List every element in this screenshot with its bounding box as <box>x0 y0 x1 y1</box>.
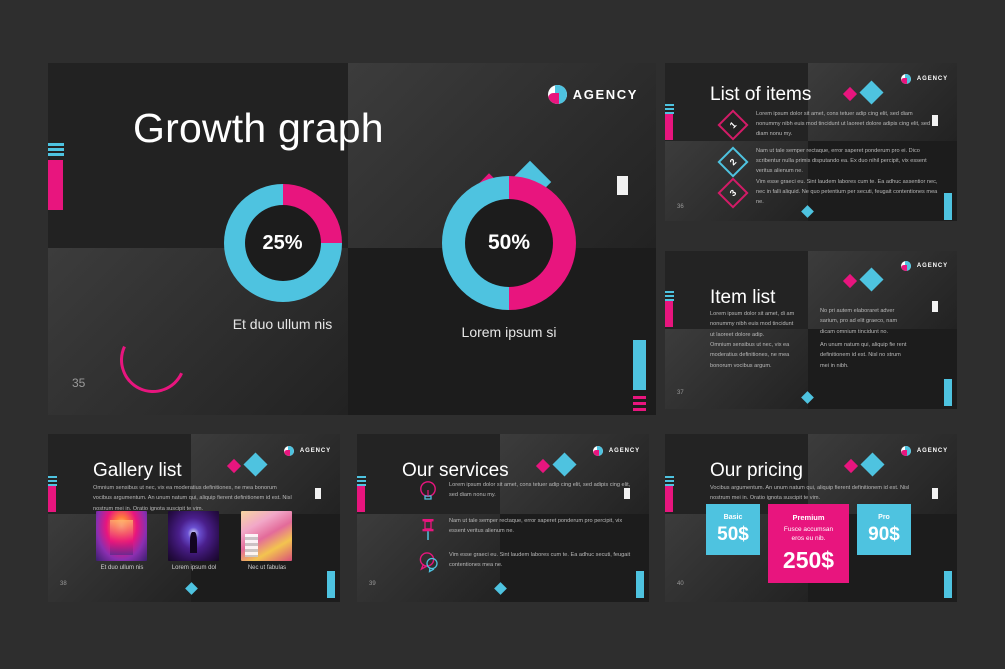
cyan-bar-decoration <box>327 571 335 598</box>
diamond-cyan-decoration <box>859 267 883 291</box>
slide-growth-graph[interactable]: AGENCY Growth graph 25% Et duo ullum nis… <box>48 63 656 415</box>
page-number: 37 <box>677 390 684 396</box>
slide-deck-overview: AGENCY Growth graph 25% Et duo ullum nis… <box>0 0 1005 669</box>
page-number: 39 <box>369 581 376 587</box>
pink-arc-decoration <box>111 318 196 403</box>
list-item-text: Lorem ipsum dolor sit amet, cons tetuer … <box>756 110 938 139</box>
logo-mark-icon <box>284 446 294 456</box>
page-title: List of items <box>710 84 811 106</box>
slide-our-pricing[interactable]: AGENCY Our pricing Vocibus argumentum. A… <box>665 434 957 602</box>
cyan-bar-decoration <box>944 193 952 220</box>
donut-chart-2: 50% Lorem ipsum si <box>430 176 588 340</box>
logo-text: AGENCY <box>573 87 638 102</box>
cyan-stripes-decoration <box>48 476 57 486</box>
pink-bar-decoration <box>48 160 63 210</box>
pink-bar-decoration <box>357 486 365 512</box>
pink-stripes-decoration <box>633 396 646 411</box>
pink-bar-decoration <box>665 486 673 512</box>
gallery-thumb-3[interactable] <box>241 511 292 561</box>
logo-text: AGENCY <box>917 263 948 269</box>
pink-bar-decoration <box>665 114 673 140</box>
number-diamond-3-icon: 3 <box>718 178 748 208</box>
logo: AGENCY <box>901 261 948 271</box>
pricing-card-name: Basic <box>724 514 743 521</box>
logo-mark-icon <box>548 85 567 104</box>
item-cell-text: Lorem ipsum dolor sit amet, di am nonumm… <box>710 309 798 340</box>
list-item-text: Nam ut tale semper rectaque, error saper… <box>756 147 938 176</box>
cyan-stripes-decoration <box>665 104 674 114</box>
donut-chart-1: 25% Et duo ullum nis <box>205 184 360 332</box>
pricing-card-amount: 50$ <box>717 524 749 546</box>
lightbulb-icon <box>417 480 443 511</box>
service-item[interactable]: Vim esse graeci eu. Sint laudem labores … <box>417 550 632 579</box>
diamond-pink-decoration <box>227 459 241 473</box>
pink-bar-decoration <box>665 301 673 327</box>
logo: AGENCY <box>593 446 640 456</box>
service-item[interactable]: Nam ut tale semper rectaque, error saper… <box>417 516 632 547</box>
page-number: 36 <box>677 204 684 210</box>
slide-gallery-list[interactable]: AGENCY Gallery list Omnium sensibus ut n… <box>48 434 340 602</box>
pricing-card-name: Pro <box>878 514 890 521</box>
list-item[interactable]: 1 Lorem ipsum dolor sit amet, cons tetue… <box>718 110 938 140</box>
logo: AGENCY <box>548 85 638 104</box>
diamond-cyan-decoration <box>243 452 267 476</box>
speech-bubbles-icon <box>417 550 443 579</box>
slide-item-list[interactable]: AGENCY Item list Lorem ipsum dolor sit a… <box>665 251 957 409</box>
pricing-card-amount: 250$ <box>783 547 834 574</box>
diamond-footer-decoration <box>185 582 198 595</box>
service-item-text: Nam ut tale semper rectaque, error saper… <box>449 516 632 536</box>
logo-text: AGENCY <box>917 448 948 454</box>
cyan-bar-decoration <box>944 379 952 406</box>
pricing-card-pro[interactable]: Pro 90$ <box>857 504 911 555</box>
diamond-pink-decoration <box>844 459 858 473</box>
cyan-stripes-decoration <box>48 143 64 156</box>
diamond-footer-decoration <box>494 582 507 595</box>
logo-text: AGENCY <box>917 76 948 82</box>
page-title: Growth graph <box>133 105 384 152</box>
pricing-card-premium[interactable]: Premium Fusce accumsan eros eu nib. 250$ <box>768 504 849 583</box>
diamond-cyan-decoration <box>552 452 576 476</box>
diamond-cyan-decoration <box>860 452 884 476</box>
intro-text: Vocibus argumentum. An unum natum qui, a… <box>710 483 910 504</box>
list-item[interactable]: 2 Nam ut tale semper rectaque, error sap… <box>718 147 938 177</box>
list-item-text: Vim esse graeci eu. Sint laudem labores … <box>756 178 938 207</box>
donut-ring-2: 50% <box>442 176 576 310</box>
logo-mark-icon <box>593 446 603 456</box>
white-chip-decoration <box>932 301 938 312</box>
cyan-bar-decoration <box>944 571 952 598</box>
diamond-footer-decoration <box>801 391 814 404</box>
service-item[interactable]: Lorem ipsum dolor sit amet, cons tetuer … <box>417 480 632 511</box>
page-title: Gallery list <box>93 460 182 482</box>
number-diamond-1-icon: 1 <box>718 110 748 140</box>
cyan-bar-decoration <box>636 571 644 598</box>
slide-our-services[interactable]: AGENCY Our services Lorem ipsum dolor si… <box>357 434 649 602</box>
cyan-stripes-decoration <box>665 291 674 301</box>
diamond-pink-decoration <box>843 274 857 288</box>
diamond-pink-decoration <box>843 87 857 101</box>
page-number: 38 <box>60 581 67 587</box>
logo: AGENCY <box>901 446 948 456</box>
service-item-text: Vim esse graeci eu. Sint laudem labores … <box>449 550 632 570</box>
logo-mark-icon <box>901 74 911 84</box>
gallery-thumb-2[interactable] <box>168 511 219 561</box>
gallery-thumb-1[interactable] <box>96 511 147 561</box>
background-quadrants <box>665 251 957 409</box>
donut-caption-2: Lorem ipsum si <box>430 324 588 340</box>
donut-center-label-1: 25% <box>245 205 321 281</box>
white-chip-decoration <box>617 176 628 195</box>
slide-list-of-items[interactable]: AGENCY List of items 1 Lorem ipsum dolor… <box>665 63 957 221</box>
cyan-bar-decoration <box>633 340 646 390</box>
page-number: 40 <box>677 581 684 587</box>
gallery-caption-2: Lorem ipsum dol <box>160 565 228 571</box>
pushpin-icon <box>417 516 443 547</box>
item-cell-text: No pri autem elaboraret adver sarium, pr… <box>820 306 908 337</box>
item-cell-text: An unum natum qui, aliquip fie rent defi… <box>820 340 908 371</box>
donut-ring-1: 25% <box>224 184 342 302</box>
intro-text: Omnium sensibus ut nec, vix ea moderatiu… <box>93 483 293 514</box>
logo: AGENCY <box>901 74 948 84</box>
page-title: Our pricing <box>710 460 803 482</box>
pricing-card-amount: 90$ <box>868 524 900 546</box>
logo-text: AGENCY <box>609 448 640 454</box>
donut-center-label-2: 50% <box>465 199 553 287</box>
white-chip-decoration <box>315 488 321 499</box>
logo-text: AGENCY <box>300 448 331 454</box>
diamond-cyan-decoration <box>859 80 883 104</box>
pink-bar-decoration <box>48 486 56 512</box>
cyan-stripes-decoration <box>357 476 366 486</box>
pricing-card-desc: Fusce accumsan eros eu nib. <box>779 526 839 543</box>
service-item-text: Lorem ipsum dolor sit amet, cons tetuer … <box>449 480 632 500</box>
item-cell-text: Omnium sensibus ut nec, vix ea moderatiu… <box>710 340 798 371</box>
page-title: Our services <box>402 460 509 482</box>
diamond-pink-decoration <box>536 459 550 473</box>
list-item[interactable]: 3 Vim esse graeci eu. Sint laudem labore… <box>718 178 938 208</box>
gallery-caption-1: Et duo ullum nis <box>88 565 156 571</box>
donut-caption-1: Et duo ullum nis <box>205 316 360 332</box>
cyan-stripes-decoration <box>665 476 674 486</box>
gallery-caption-3: Nec ut fabulas <box>233 565 301 571</box>
pricing-card-basic[interactable]: Basic 50$ <box>706 504 760 555</box>
pricing-card-name: Premium <box>792 513 824 522</box>
page-number: 35 <box>72 376 85 390</box>
logo-mark-icon <box>901 261 911 271</box>
white-chip-decoration <box>932 488 938 499</box>
logo-mark-icon <box>901 446 911 456</box>
logo: AGENCY <box>284 446 331 456</box>
page-title: Item list <box>710 287 775 309</box>
